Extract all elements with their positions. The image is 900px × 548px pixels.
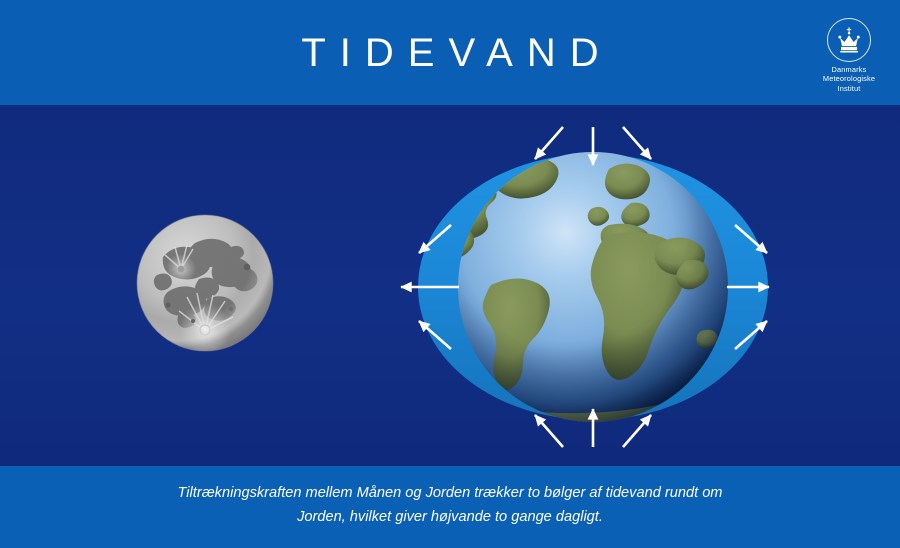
arrow-top-left: [535, 127, 563, 159]
earth-tide-diagram: [395, 125, 775, 450]
logo-text-line3: Institut: [812, 84, 886, 93]
caption: Tiltrækningskraften mellem Månen og Jord…: [110, 481, 790, 529]
moon: [135, 213, 275, 353]
arrow-bottom-right: [623, 415, 651, 447]
caption-line-1: Tiltrækningskraften mellem Månen og Jord…: [110, 481, 790, 505]
arrow-top-right: [623, 127, 651, 159]
infographic-poster: TIDEVAND Danmarks Meteorologiske Institu…: [0, 0, 900, 548]
caption-line-2: Jorden, hvilket giver højvande to gange …: [110, 505, 790, 529]
dmi-logo: Danmarks Meteorologiske Institut: [812, 18, 886, 94]
arrow-bottom-left: [535, 415, 563, 447]
page-title: TIDEVAND: [0, 30, 900, 76]
logo-text: Danmarks Meteorologiske Institut: [812, 65, 886, 93]
crown-icon: [827, 18, 871, 62]
logo-text-line1: Danmarks: [812, 65, 886, 74]
logo-text-line2: Meteorologiske: [812, 74, 886, 83]
